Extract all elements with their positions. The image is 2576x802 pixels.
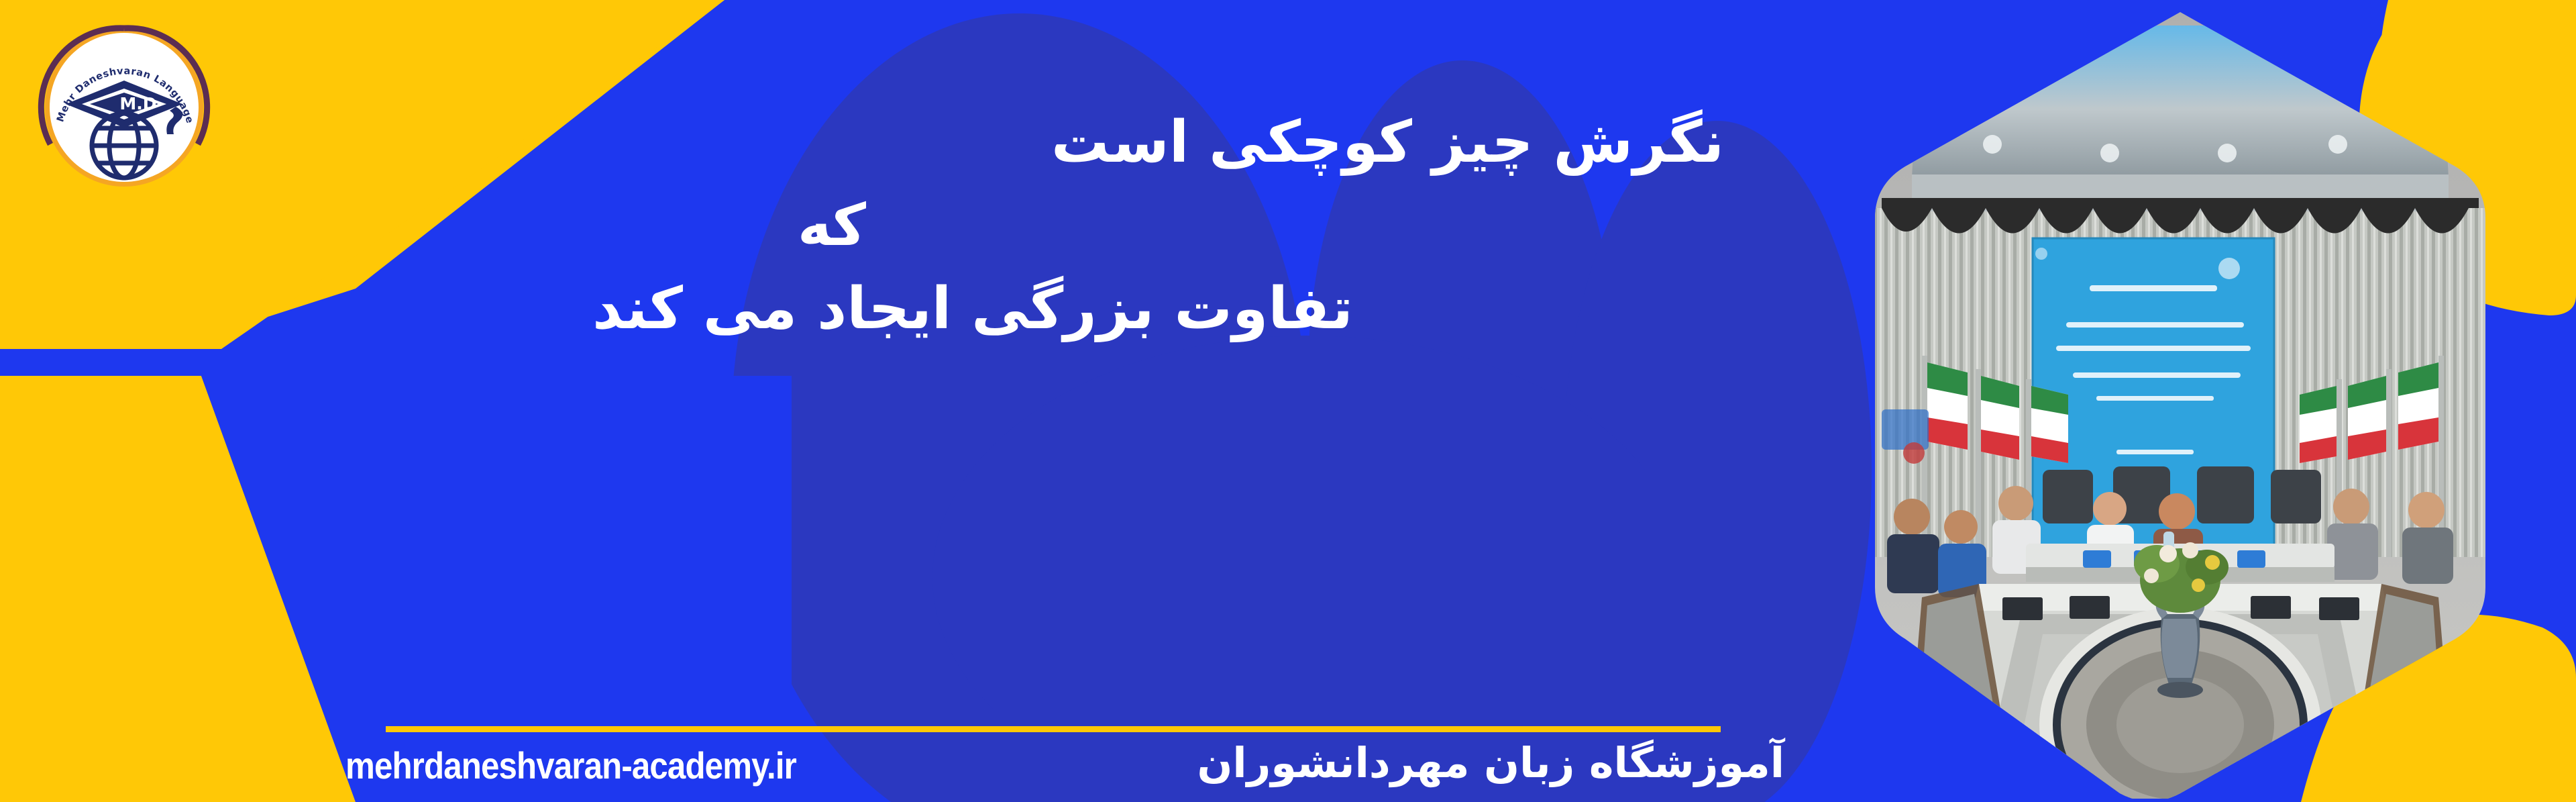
institute-logo[interactable]: Mehr Daneshvaran Language Institute M.D (34, 17, 215, 198)
logo-monogram: M.D (119, 94, 156, 113)
headline-line-2: که (121, 184, 1825, 267)
conference-room-photo (1841, 7, 2519, 799)
headline-line-3: تفاوت بزرگی ایجاد می کند (121, 267, 1825, 350)
headline-line-1: نگرش چیز کوچکی است (121, 101, 1825, 184)
headline-block: نگرش چیز کوچکی است که تفاوت بزرگی ایجاد … (121, 101, 1825, 350)
left-blue-strip (201, 376, 792, 802)
website-url[interactable]: mehrdaneshvaran-academy.ir (345, 744, 796, 787)
institute-name-persian: آموزشگاه زبان مهردانشوران (1197, 738, 1784, 787)
footer-divider-rule (386, 726, 1721, 732)
bottom-left-yellow-wedge (0, 376, 356, 802)
promotional-banner: Mehr Daneshvaran Language Institute M.D … (0, 0, 2576, 802)
